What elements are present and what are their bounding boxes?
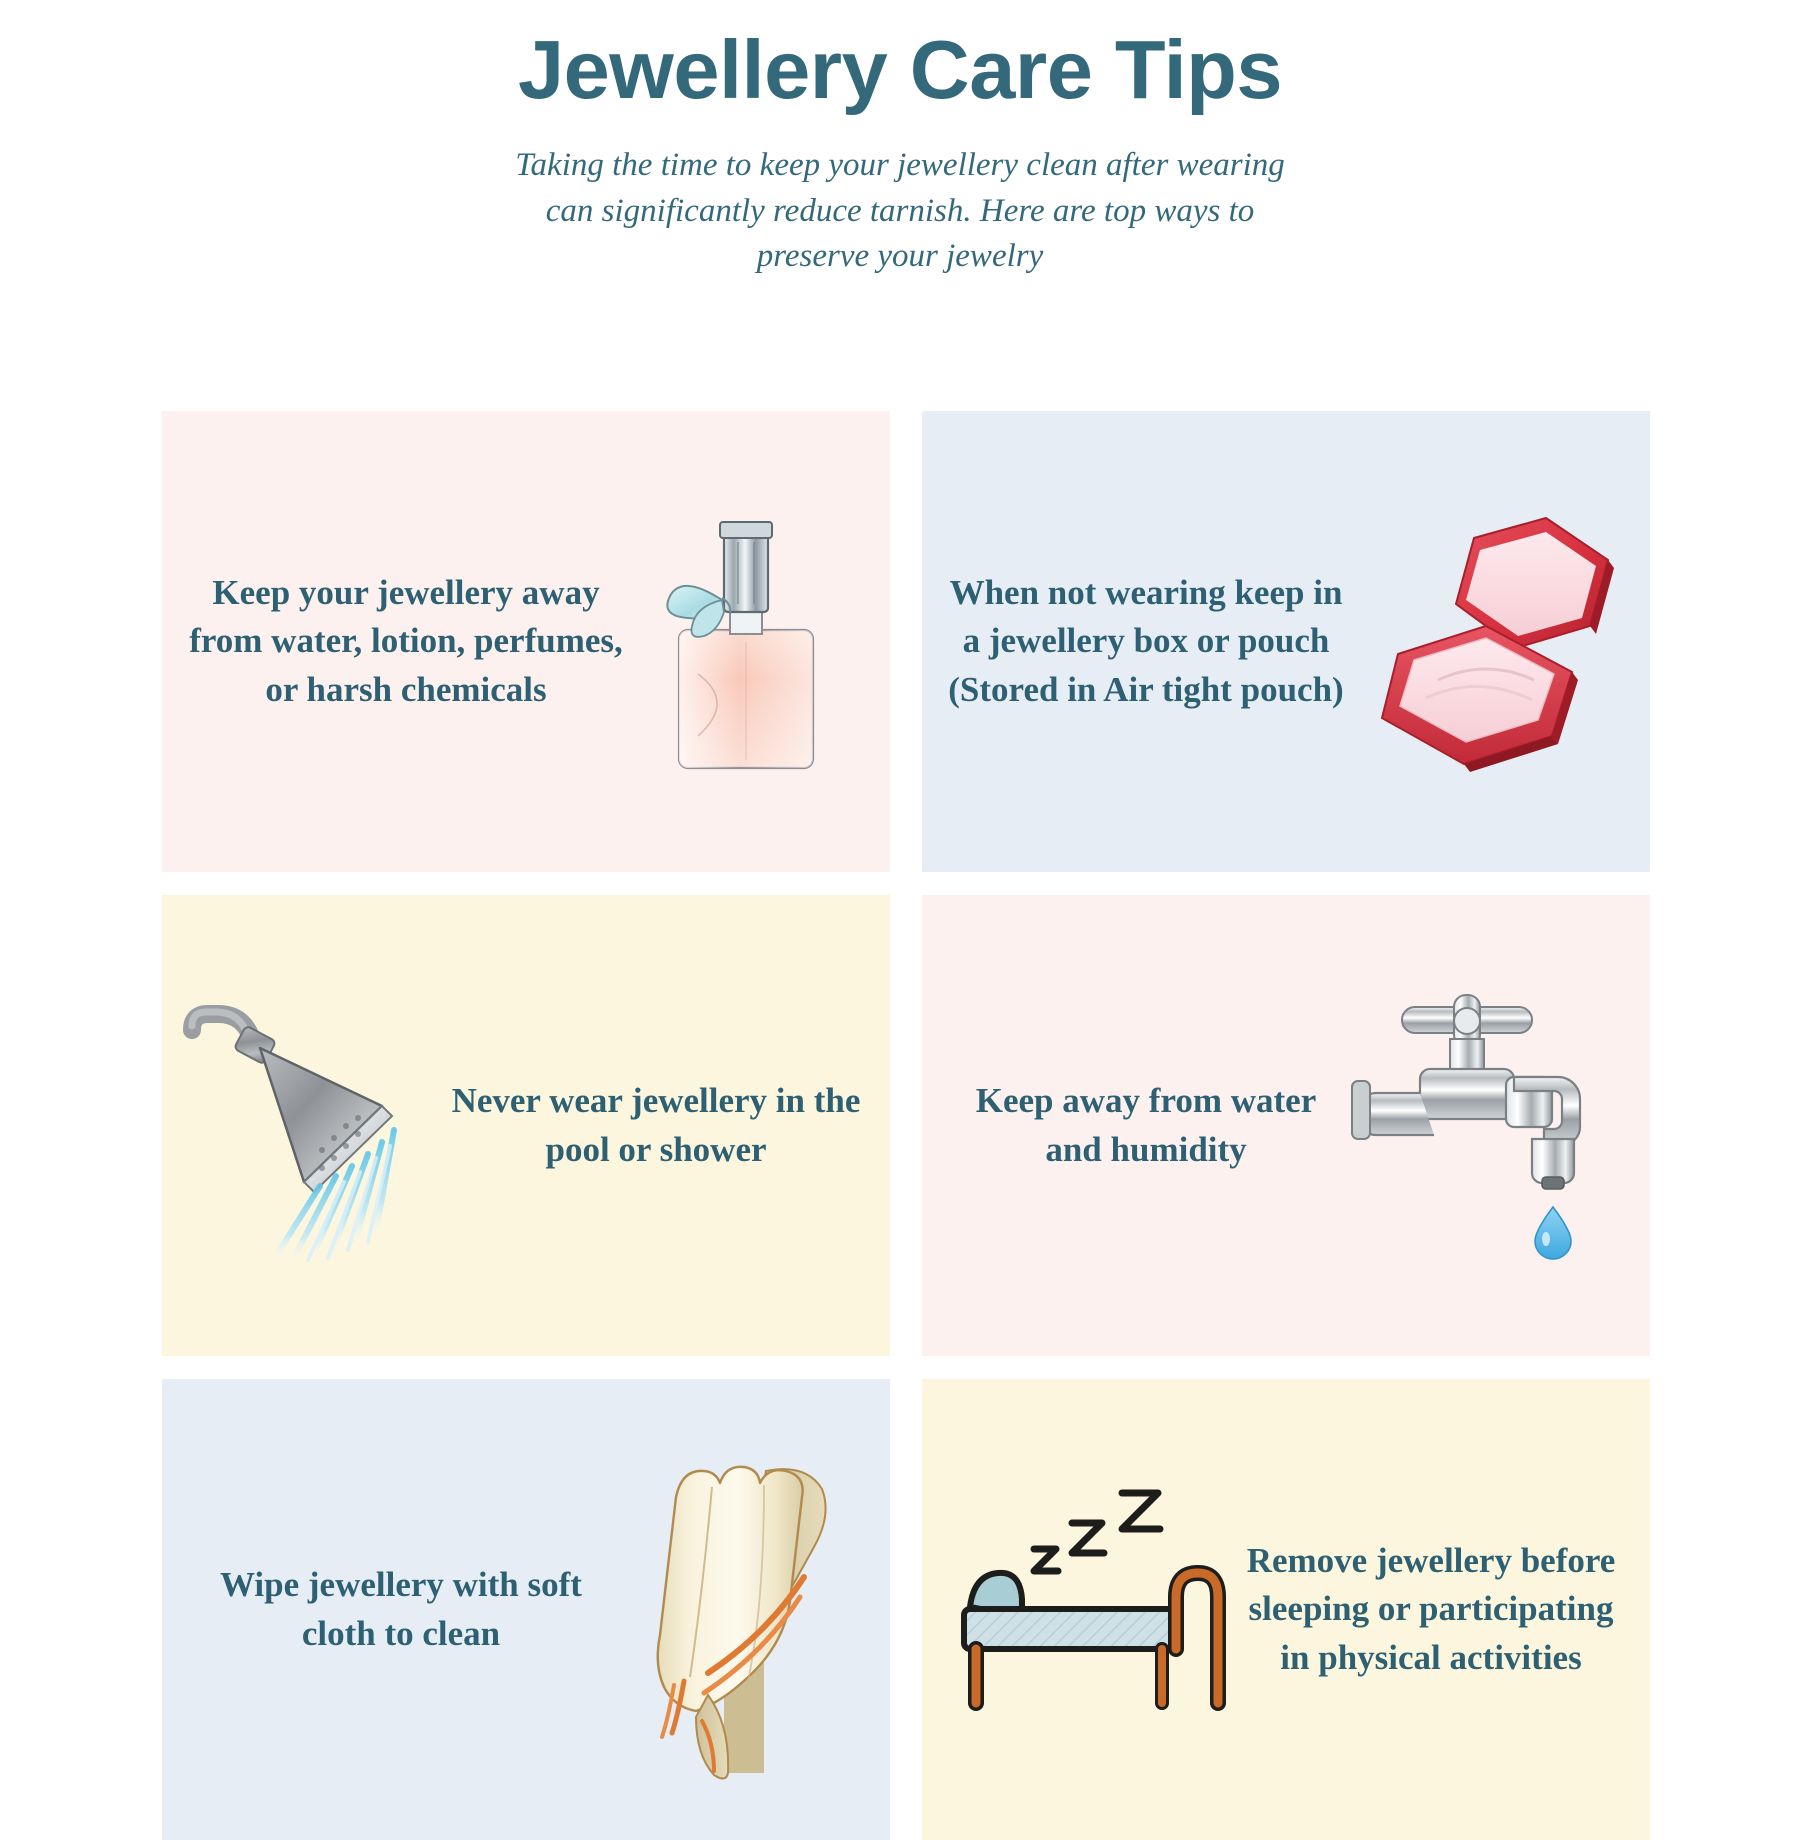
header: Jewellery Care Tips Taking the time to k…: [0, 0, 1800, 280]
perfume-bottle-icon: [626, 492, 866, 792]
tip-card-perfume[interactable]: Keep your jewellery away from water, lot…: [162, 411, 906, 872]
tip-card-jewellery-box[interactable]: When not wearing keep in a jewellery box…: [906, 411, 1650, 872]
page-subtitle: Taking the time to keep your jewellery c…: [500, 143, 1300, 280]
infographic-page: Jewellery Care Tips Taking the time to k…: [0, 0, 1800, 1800]
tip-card-faucet[interactable]: Keep away from water and humidity: [906, 895, 1650, 1356]
shower-head-icon: [186, 986, 446, 1266]
tip-card-bed[interactable]: Remove jewellery before sleeping or part…: [906, 1379, 1650, 1840]
faucet-icon: [1346, 981, 1626, 1271]
tip-card-jewellery-box-label: When not wearing keep in a jewellery box…: [946, 569, 1346, 714]
ring-box-icon: [1346, 502, 1626, 782]
bed-sleeping-icon: [946, 1485, 1236, 1735]
polishing-cloth-icon: [616, 1445, 866, 1775]
tips-grid: Keep your jewellery away from water, lot…: [162, 411, 1640, 1840]
page-title: Jewellery Care Tips: [0, 26, 1800, 113]
tip-card-perfume-label: Keep your jewellery away from water, lot…: [186, 569, 626, 714]
tip-card-cloth[interactable]: Wipe jewellery with soft cloth to clean: [162, 1379, 906, 1840]
tip-card-cloth-label: Wipe jewellery with soft cloth to clean: [186, 1561, 616, 1658]
tip-card-shower-label: Never wear jewellery in the pool or show…: [446, 1077, 866, 1174]
tip-card-shower[interactable]: Never wear jewellery in the pool or show…: [162, 895, 906, 1356]
tip-card-bed-label: Remove jewellery before sleeping or part…: [1236, 1537, 1626, 1682]
tip-card-faucet-label: Keep away from water and humidity: [946, 1077, 1346, 1174]
